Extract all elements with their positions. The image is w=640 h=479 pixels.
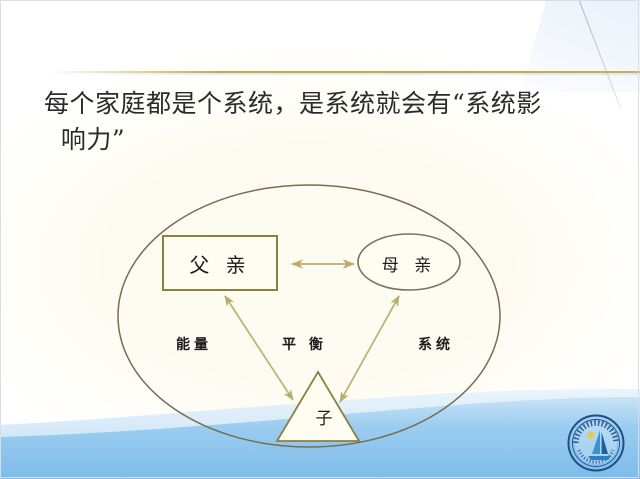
sailboat-seal-logo <box>567 414 625 472</box>
slide-canvas: 每个家庭都是个系统，是系统就会有“系统影 响力” <box>0 0 640 479</box>
father-node-label: 父 亲 <box>163 249 277 278</box>
annotation-system: 系统 <box>418 334 454 354</box>
edge-mother-child <box>340 296 399 402</box>
annotation-energy: 能量 <box>176 334 212 354</box>
child-node-label: 子 <box>288 404 360 429</box>
annotation-balance: 平 衡 <box>282 334 327 354</box>
mother-node-label: 母 亲 <box>358 251 460 276</box>
